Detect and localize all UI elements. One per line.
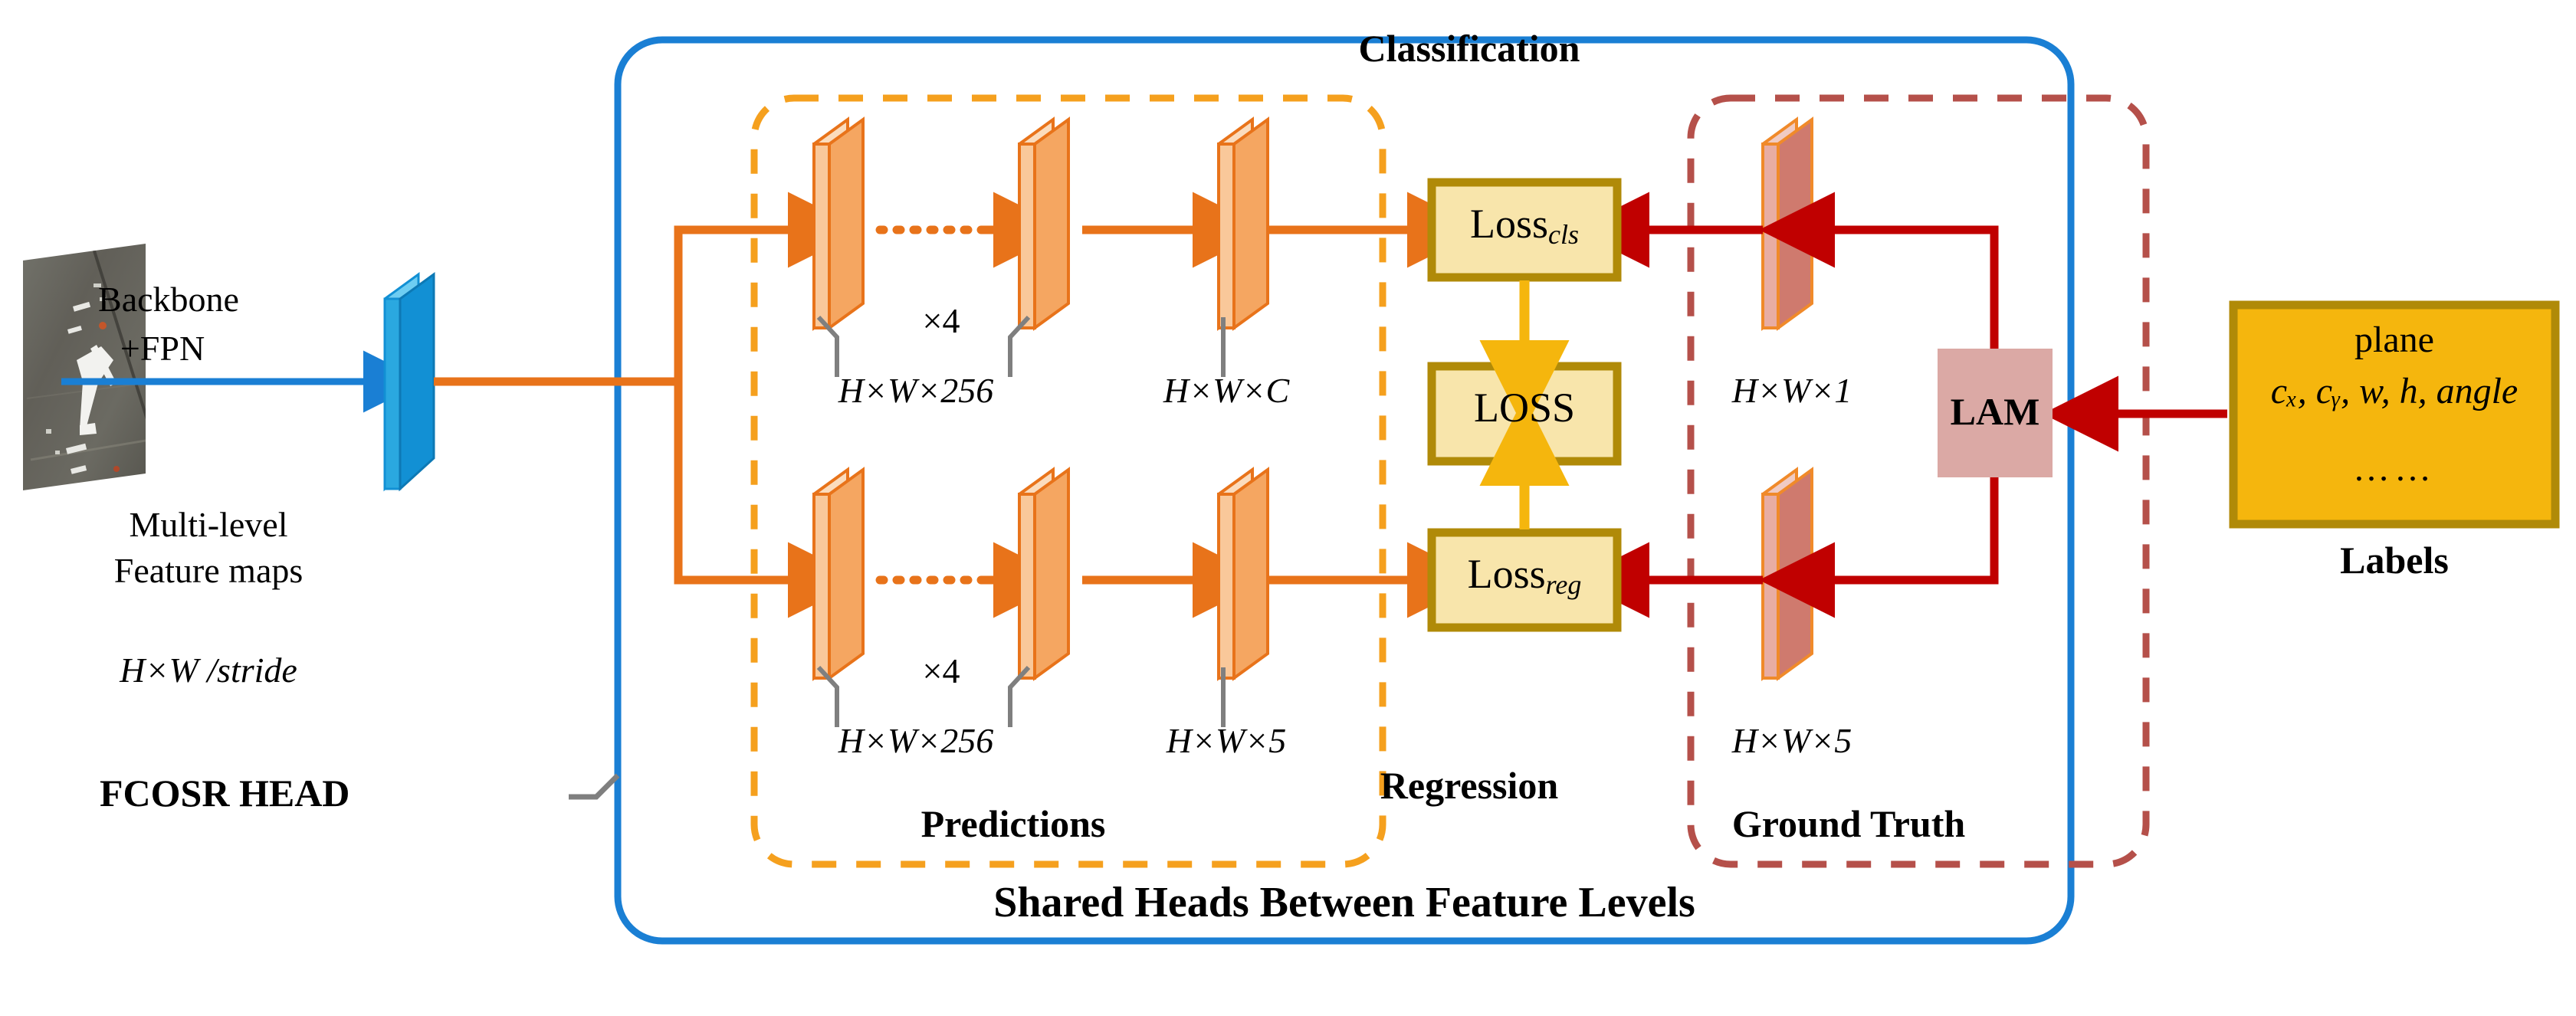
predictions-group-label: Predictions	[921, 805, 1106, 843]
backbone-label-line2: +FPN	[120, 331, 205, 366]
reg-slab-conv-first	[814, 470, 863, 678]
labels-ellipsis: ……	[2353, 451, 2436, 487]
loss-reg-label: Lossreg	[1468, 553, 1582, 598]
reg-slab-output	[1219, 470, 1268, 678]
cls-dim-conv: H×W×256	[838, 373, 994, 408]
cls-slab-output	[1219, 120, 1268, 328]
loss-cls-base: Loss	[1470, 201, 1548, 247]
loss-cls-subscript: cls	[1548, 219, 1579, 250]
lam-label: LAM	[1951, 392, 2040, 431]
feature-maps-dims: H×W /stride	[120, 653, 297, 688]
loss-reg-subscript: reg	[1546, 569, 1582, 600]
reg-dim-output: H×W×5	[1167, 723, 1287, 759]
loss-reg-base: Loss	[1468, 551, 1546, 597]
ground-truth-group-label: Ground Truth	[1732, 805, 1965, 843]
loss-cls-label: Losscls	[1470, 203, 1579, 248]
cls-slab-conv-first	[814, 120, 863, 328]
diagram-graphics	[0, 0, 2576, 1016]
reg-repeat-label: ×4	[923, 654, 960, 689]
labels-class-name: plane	[2354, 322, 2434, 359]
diagram-bottom-title: Shared Heads Between Feature Levels	[993, 881, 1695, 924]
feature-map-split-routing	[434, 230, 768, 580]
cls-dim-output: H×W×C	[1163, 373, 1289, 408]
cls-slab-conv-last	[1019, 120, 1068, 328]
fcosr-head-label: FCOSR HEAD	[100, 774, 349, 812]
regression-header: Regression	[1380, 766, 1558, 805]
lam-bus-to-gt-reg	[1855, 477, 1994, 580]
loss-total-label: LOSS	[1474, 387, 1575, 428]
gt-slab-cls	[1763, 120, 1812, 328]
feature-map-slab	[385, 274, 434, 489]
gt-dim-reg: H×W×5	[1732, 723, 1852, 759]
feature-maps-caption-line1: Multi-level	[130, 507, 288, 542]
backbone-label-line1: Backbone	[98, 282, 239, 317]
labels-params: cₓ, cᵧ, w, h, angle	[2271, 373, 2518, 410]
fcosr-head-leader	[569, 775, 618, 797]
diagram-canvas: Backbone +FPN Multi-level Feature maps H…	[0, 0, 2576, 1016]
reg-slab-conv-last	[1019, 470, 1068, 678]
classification-header: Classification	[1359, 29, 1580, 67]
reg-dim-conv: H×W×256	[838, 723, 994, 759]
gt-dim-cls: H×W×1	[1732, 373, 1852, 408]
feature-maps-caption-line2: Feature maps	[114, 553, 304, 588]
labels-caption: Labels	[2340, 541, 2449, 579]
gt-slab-reg	[1763, 470, 1812, 678]
lam-bus-to-gt-cls	[1855, 230, 1994, 349]
cls-repeat-label: ×4	[923, 303, 960, 339]
